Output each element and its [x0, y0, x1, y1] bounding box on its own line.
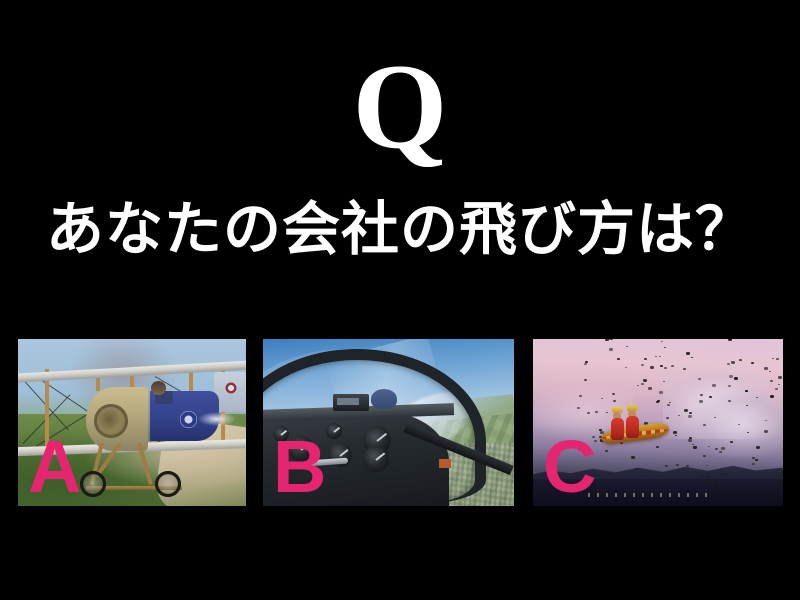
bird: [661, 341, 663, 342]
bird: [764, 367, 768, 370]
bird: [688, 415, 692, 418]
bird: [641, 364, 644, 366]
bird: [738, 424, 740, 425]
bird: [770, 380, 773, 382]
bird: [706, 465, 708, 466]
presentation-slide: Q あなたの会社の飛び方は？: [0, 0, 800, 600]
bird: [606, 412, 608, 413]
radio-unit: [333, 394, 369, 411]
bird: [747, 432, 749, 433]
rider-body: [626, 416, 639, 438]
bird: [584, 379, 587, 381]
choice-a-letter: A: [28, 430, 81, 504]
instrument-gauge: [326, 423, 342, 439]
bird: [665, 465, 668, 467]
bird: [671, 365, 674, 367]
bird: [698, 378, 701, 380]
carpet-rider: [626, 404, 642, 436]
bird: [669, 402, 671, 403]
bird: [721, 473, 724, 475]
bird: [577, 407, 580, 409]
bird: [739, 359, 742, 361]
bird: [745, 390, 748, 392]
pilot-cap: [371, 389, 397, 409]
bird: [772, 358, 774, 359]
bird: [751, 362, 754, 364]
choice-c-letter: C: [543, 430, 596, 504]
bird: [699, 400, 703, 403]
bird: [655, 356, 657, 357]
bird: [644, 358, 647, 360]
bird: [579, 395, 582, 397]
bird: [756, 446, 760, 449]
bird: [728, 339, 732, 341]
question-marker-letter: Q: [0, 46, 800, 168]
bird: [605, 450, 608, 452]
bird: [659, 391, 663, 394]
bird: [631, 456, 635, 459]
bird: [715, 448, 718, 450]
bird: [710, 480, 714, 483]
bird: [752, 463, 755, 465]
bird: [714, 417, 716, 418]
bird: [696, 477, 699, 479]
bird: [635, 468, 638, 470]
bird: [703, 424, 706, 426]
bird: [746, 405, 748, 406]
bird: [584, 363, 587, 365]
bird: [775, 388, 778, 390]
choice-photo-row: A: [0, 339, 800, 506]
bird: [728, 385, 731, 387]
bird: [719, 451, 722, 453]
bird: [700, 394, 703, 396]
bird: [712, 384, 716, 387]
bird: [673, 431, 677, 434]
bird: [613, 400, 616, 402]
bird: [637, 385, 639, 386]
choice-b-letter: B: [273, 430, 326, 504]
bird: [703, 455, 706, 457]
bird: [626, 346, 628, 347]
bird: [686, 352, 690, 355]
bird: [683, 368, 686, 370]
bird: [778, 376, 782, 379]
bird: [660, 365, 663, 367]
bird: [650, 366, 654, 369]
bird: [667, 404, 670, 406]
fuselage-roundel: [180, 411, 197, 428]
choice-a-photo[interactable]: A: [18, 339, 246, 506]
bird: [666, 417, 669, 419]
bird: [729, 375, 733, 378]
release-lever: [439, 459, 451, 468]
bird: [727, 363, 730, 365]
choice-b-photo[interactable]: B: [263, 339, 514, 506]
bird: [755, 459, 758, 461]
bird: [686, 465, 689, 467]
bird: [664, 347, 666, 348]
bird: [770, 395, 774, 398]
bird: [688, 439, 692, 442]
carpet-rider: [611, 406, 627, 438]
bird: [601, 398, 603, 399]
bird: [728, 400, 731, 402]
bird: [605, 339, 609, 341]
bird: [617, 358, 620, 360]
bird: [721, 447, 725, 450]
bird: [778, 384, 780, 385]
bird: [730, 441, 733, 443]
landing-wheel: [155, 471, 181, 497]
bird: [764, 430, 768, 433]
bird: [769, 371, 771, 372]
bird: [609, 348, 613, 351]
bird: [731, 361, 735, 364]
bird: [657, 472, 659, 473]
bird: [689, 412, 692, 414]
bird: [676, 464, 679, 466]
bird: [752, 457, 755, 459]
bird: [692, 444, 694, 445]
bird: [678, 415, 680, 416]
bird: [718, 481, 720, 482]
bird: [609, 339, 613, 340]
bird: [648, 387, 652, 390]
bird: [657, 400, 660, 402]
bird: [641, 383, 644, 385]
question-text: あなたの会社の飛び方は？: [0, 196, 800, 262]
bird: [708, 446, 710, 447]
bird: [727, 474, 729, 475]
bird: [756, 397, 758, 398]
bird: [693, 446, 697, 449]
bird: [734, 377, 738, 380]
rider-body: [611, 418, 624, 440]
bird: [595, 411, 598, 413]
bird: [709, 396, 712, 398]
bird: [587, 412, 590, 414]
bird: [599, 429, 602, 431]
bird: [612, 393, 615, 395]
bird: [664, 367, 667, 369]
bird: [776, 358, 779, 360]
bird: [706, 476, 709, 478]
bird: [656, 446, 659, 448]
bird: [684, 409, 688, 412]
bird: [675, 435, 677, 436]
bird: [625, 367, 627, 368]
bird: [643, 379, 647, 382]
bird: [663, 381, 665, 382]
bird: [640, 479, 643, 481]
choice-c-photo[interactable]: C: [533, 339, 783, 506]
landing-wheel: [80, 471, 106, 497]
bird: [659, 356, 661, 357]
bird: [691, 357, 693, 358]
pilot-head: [151, 381, 166, 395]
bird: [765, 420, 767, 421]
bird: [701, 475, 704, 477]
